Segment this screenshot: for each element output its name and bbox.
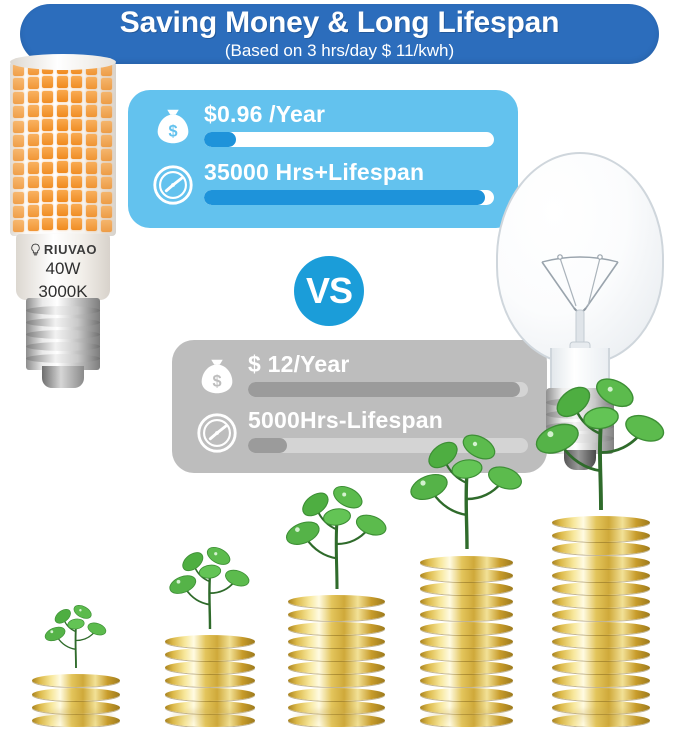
coin-stack — [552, 510, 650, 727]
led-chip — [86, 162, 97, 174]
coin — [552, 674, 650, 687]
led-chip — [13, 135, 24, 147]
plant-sprout-icon — [407, 429, 527, 549]
plant-sprout-icon — [167, 543, 253, 629]
coin-column — [552, 510, 650, 727]
incandescent-cost-label: $ 12/Year — [248, 351, 350, 378]
led-chip — [86, 176, 97, 188]
led-chip — [13, 92, 24, 104]
coin — [552, 516, 650, 529]
coin-stack — [165, 629, 255, 727]
coin-stack — [32, 668, 120, 727]
led-base-tip — [42, 366, 84, 388]
clock-icon — [150, 162, 196, 208]
led-chip — [28, 205, 39, 217]
led-chip — [13, 149, 24, 161]
led-chip — [28, 134, 39, 146]
led-chip — [42, 105, 53, 117]
incandescent-cost-row: $ $ 12/Year — [194, 352, 528, 408]
coin — [288, 674, 385, 687]
banner-title: Saving Money & Long Lifespan — [20, 6, 659, 40]
coin — [165, 688, 255, 701]
coin-reflection — [170, 709, 249, 725]
led-chip — [86, 91, 97, 103]
coin — [420, 556, 513, 569]
led-chip — [42, 119, 53, 131]
led-chip — [28, 148, 39, 160]
coin — [552, 556, 650, 569]
coin — [32, 674, 120, 687]
led-chip — [57, 176, 68, 188]
led-cost-label: $0.96 /Year — [204, 101, 325, 128]
led-base-thread — [26, 330, 100, 339]
coin-growth-chart — [0, 490, 679, 745]
led-chip — [28, 77, 39, 89]
coin — [288, 635, 385, 648]
led-chip-grid — [10, 62, 116, 234]
led-chip — [13, 106, 24, 118]
filament-icon — [530, 248, 630, 360]
led-chip — [71, 218, 82, 230]
led-chip — [13, 220, 24, 232]
led-chip — [101, 92, 112, 104]
led-chip — [57, 105, 68, 117]
coin — [420, 608, 513, 621]
clock-icon — [194, 410, 240, 456]
infographic-canvas: Saving Money & Long Lifespan (Based on 3… — [0, 0, 679, 745]
coin-column — [288, 589, 385, 727]
led-lifespan-bar-fill — [204, 190, 485, 205]
coin-reflection — [426, 709, 508, 725]
coin — [420, 661, 513, 674]
money-bag-icon: $ — [150, 104, 196, 150]
led-chip — [101, 177, 112, 189]
svg-text:$: $ — [212, 373, 221, 391]
coin-stack — [420, 549, 513, 727]
coin — [552, 582, 650, 595]
coin-stack — [288, 589, 385, 727]
coin — [552, 569, 650, 582]
coin-reflection — [294, 709, 379, 725]
led-chip — [71, 105, 82, 117]
led-chip — [86, 148, 97, 160]
plant-sprout-icon — [532, 372, 670, 510]
coin-reflection — [37, 709, 114, 725]
led-base-thread — [26, 354, 100, 363]
led-bulb-image: RIUVAO 40W 3000K — [2, 58, 126, 400]
led-chip — [57, 90, 68, 102]
led-chip — [101, 163, 112, 175]
led-chip — [71, 91, 82, 103]
coin — [420, 635, 513, 648]
led-chip — [13, 78, 24, 90]
coin — [165, 648, 255, 661]
coin — [165, 635, 255, 648]
led-chip — [101, 206, 112, 218]
led-chip — [101, 192, 112, 204]
led-chip — [28, 191, 39, 203]
coin — [552, 542, 650, 555]
led-chip — [42, 147, 53, 159]
led-chip — [42, 91, 53, 103]
led-chip — [71, 176, 82, 188]
coin-reflection — [558, 709, 644, 725]
coin — [288, 661, 385, 674]
led-wattage-text: 40W — [16, 259, 110, 280]
coin — [165, 661, 255, 674]
led-brand-text: RIUVAO — [44, 242, 97, 257]
led-chip — [28, 91, 39, 103]
led-chip — [71, 76, 82, 88]
led-chip — [57, 147, 68, 159]
led-chip — [13, 121, 24, 133]
led-chip — [86, 205, 97, 217]
led-chip — [42, 162, 53, 174]
led-chip — [71, 190, 82, 202]
led-chip — [86, 191, 97, 203]
led-comparison-panel: $ $0.96 /Year 35000 Hrs+Lifespan — [128, 90, 518, 228]
bulb-glyph-icon — [29, 243, 42, 256]
coin — [552, 595, 650, 608]
incandescent-lifespan-bar-fill — [248, 438, 287, 453]
led-cost-row: $ $0.96 /Year — [150, 102, 498, 158]
coin — [552, 635, 650, 648]
led-chip — [57, 204, 68, 216]
led-chip — [101, 135, 112, 147]
coin — [420, 569, 513, 582]
header-banner: Saving Money & Long Lifespan (Based on 3… — [20, 4, 659, 64]
led-chip — [28, 176, 39, 188]
led-chip — [86, 120, 97, 132]
led-chip — [13, 206, 24, 218]
coin — [552, 688, 650, 701]
vs-badge: VS — [294, 256, 364, 326]
coin — [552, 648, 650, 661]
led-chip — [71, 119, 82, 131]
coin — [420, 582, 513, 595]
led-chip — [57, 190, 68, 202]
led-chip — [86, 134, 97, 146]
led-chip — [86, 105, 97, 117]
led-chip — [71, 162, 82, 174]
led-chip — [57, 218, 68, 230]
led-base-thread — [26, 342, 100, 351]
plant-sprout-icon — [283, 481, 391, 589]
led-chip — [101, 121, 112, 133]
svg-text:$: $ — [168, 123, 177, 141]
led-chip — [28, 105, 39, 117]
led-chip — [13, 163, 24, 175]
led-chip — [28, 219, 39, 231]
led-chip — [42, 190, 53, 202]
coin — [165, 674, 255, 687]
led-chip — [86, 219, 97, 231]
led-chip — [57, 133, 68, 145]
led-lifespan-label: 35000 Hrs+Lifespan — [204, 159, 424, 186]
incandescent-cost-bar — [248, 382, 528, 397]
coin — [552, 622, 650, 635]
led-base-thread — [26, 306, 100, 315]
led-bulb-top-cap — [10, 54, 116, 70]
led-chip — [42, 133, 53, 145]
led-base-thread — [26, 318, 100, 327]
led-chip — [101, 78, 112, 90]
coin — [288, 648, 385, 661]
led-chip — [42, 218, 53, 230]
led-lifespan-row: 35000 Hrs+Lifespan — [150, 160, 498, 216]
led-chip — [13, 177, 24, 189]
coin — [420, 648, 513, 661]
led-chip — [101, 149, 112, 161]
coin — [288, 688, 385, 701]
led-bulb-label: RIUVAO 40W 3000K — [16, 242, 110, 302]
coin — [552, 661, 650, 674]
coin — [288, 622, 385, 635]
plant-sprout-icon — [43, 602, 109, 668]
led-chip — [101, 106, 112, 118]
led-chip — [71, 147, 82, 159]
led-chip — [57, 76, 68, 88]
led-chip — [86, 77, 97, 89]
coin — [420, 595, 513, 608]
coin — [288, 608, 385, 621]
led-chip — [71, 133, 82, 145]
led-chip — [57, 119, 68, 131]
led-lifespan-bar — [204, 190, 494, 205]
led-bulb-body — [10, 58, 116, 236]
led-chip — [13, 192, 24, 204]
led-chip — [42, 204, 53, 216]
coin — [32, 688, 120, 701]
money-bag-icon: $ — [194, 354, 240, 400]
coin-column — [420, 549, 513, 727]
led-chip — [57, 161, 68, 173]
coin — [288, 595, 385, 608]
led-chip — [42, 176, 53, 188]
coin — [552, 608, 650, 621]
coin — [420, 688, 513, 701]
coin — [420, 622, 513, 635]
led-chip — [101, 220, 112, 232]
incandescent-cost-bar-fill — [248, 382, 520, 397]
led-chip — [28, 120, 39, 132]
led-chip — [42, 76, 53, 88]
led-chip — [28, 162, 39, 174]
coin — [552, 529, 650, 542]
led-cost-bar-fill — [204, 132, 236, 147]
led-chip — [71, 204, 82, 216]
coin — [420, 674, 513, 687]
led-cost-bar — [204, 132, 494, 147]
